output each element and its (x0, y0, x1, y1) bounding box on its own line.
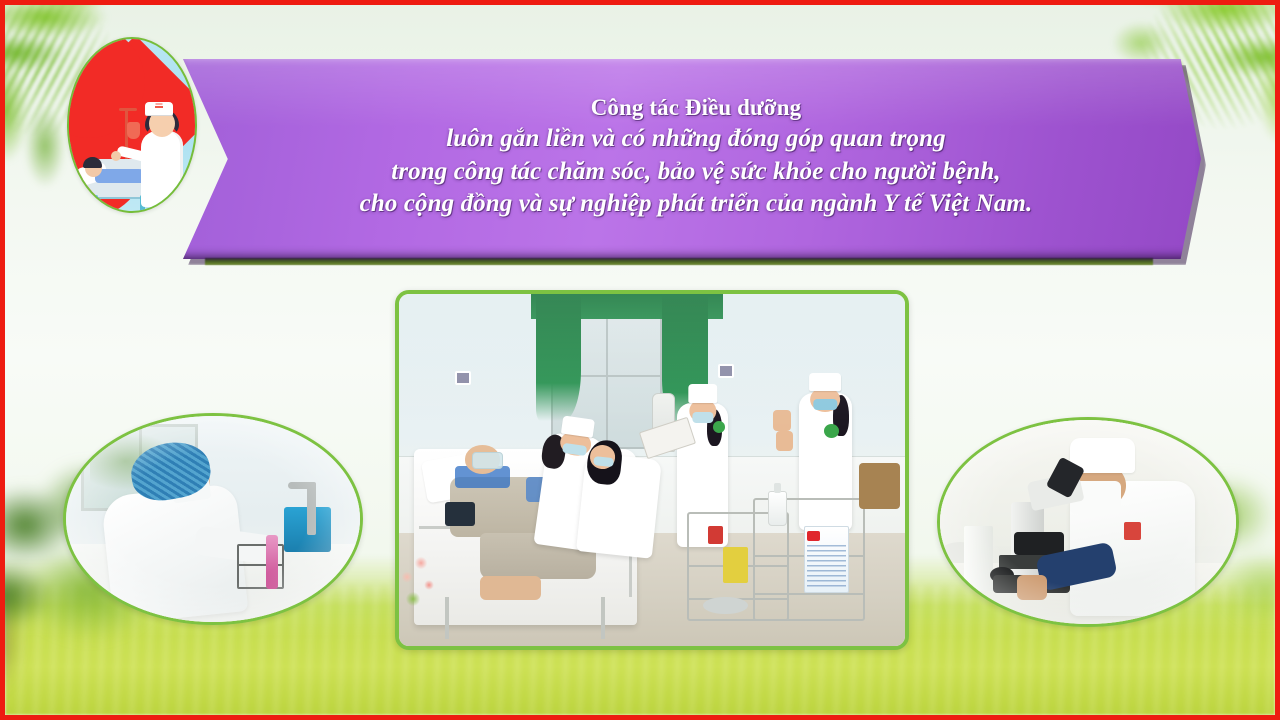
background-column (964, 526, 994, 591)
nurse-c-stethoscope-badge (713, 421, 725, 433)
hand-hygiene-poster (804, 526, 850, 593)
patient-hair-illustration (83, 157, 102, 168)
nurse-d-hand-lower (776, 431, 793, 450)
bed-leg-left (93, 195, 98, 213)
nurse-hand-illustration (111, 151, 121, 161)
microscope-user-hand (1017, 575, 1047, 599)
microscope-objective-turret (1014, 532, 1064, 554)
trolley-b-shelf-low (755, 593, 862, 595)
ward-curtain-left (536, 294, 582, 421)
iv-pole-arm-icon (119, 108, 137, 111)
nurse-figure-b (576, 452, 662, 558)
banner-text-block: Công tác Điều dưỡng luôn gắn liền và có … (183, 59, 1201, 259)
lab-coat-emblem (1124, 522, 1142, 540)
banner-line-4: cho cộng đồng và sự nghiệp phát triển củ… (360, 188, 1033, 221)
lab-technician-sink-photo (63, 413, 363, 625)
nurse-body-illustration (141, 131, 183, 207)
nurse-b-face-mask-icon (594, 456, 615, 467)
hospital-ward-photo (395, 290, 909, 650)
headline-banner: Công tác Điều dưỡng luôn gắn liền và có … (183, 59, 1201, 259)
banner-line-2: luôn gắn liền và có những đóng góp quan … (446, 123, 945, 156)
yellow-waste-bin (723, 547, 748, 582)
lab-faucet-icon (307, 482, 316, 536)
nurse-d-cap-icon (809, 373, 841, 391)
nurse-d-hand-upper (773, 410, 790, 431)
bed-leg-b (601, 597, 605, 639)
flower-bouquet (399, 551, 455, 635)
patient-feet (480, 576, 541, 601)
microscope-technician-photo (937, 417, 1239, 627)
poster-canvas: Công tác Điều dưỡng luôn gắn liền và có … (0, 0, 1280, 720)
banner-line-3: trong công tác chăm sóc, bảo vệ sức khỏe… (391, 156, 1000, 189)
sanitizer-bottle-icon (768, 491, 786, 526)
red-sharps-bin (708, 526, 723, 544)
nurse-c-cap-icon (688, 384, 717, 403)
banner-line-1: Công tác Điều dưỡng (591, 93, 802, 123)
brown-medical-bag (859, 463, 899, 509)
nursing-care-illustration (67, 37, 197, 213)
banner-base-strip (205, 258, 1153, 265)
iv-bag-icon (127, 122, 140, 139)
sample-tube (266, 535, 278, 589)
nurse-cap-icon (145, 102, 173, 115)
nurse-c-face-mask-icon (692, 412, 713, 423)
blood-pressure-cuff (445, 502, 475, 527)
bed-number-plate-27 (455, 371, 471, 385)
nurse-d-face-mask-icon (814, 399, 837, 410)
oxygen-mask-icon (472, 452, 502, 468)
bed-number-plate-28 (718, 364, 734, 378)
